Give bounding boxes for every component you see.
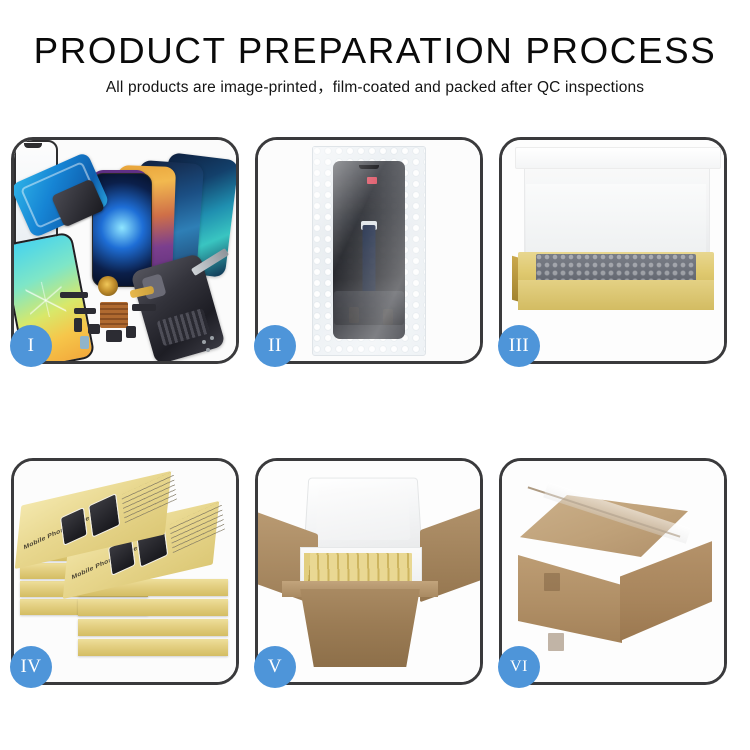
phone-parts-illustration	[14, 140, 236, 361]
qc-sticker	[367, 177, 377, 184]
step-image-3	[502, 140, 724, 361]
box-art-phone-1a	[60, 507, 88, 546]
step-badge-6: VI	[498, 646, 540, 688]
step-panel-3: III	[499, 137, 727, 364]
stacked-box-slab-6	[78, 619, 228, 636]
box-art-phone-1b	[88, 493, 120, 538]
screw-part-2	[210, 336, 214, 340]
step-panel-6: VI	[499, 458, 727, 685]
carton-face-left	[518, 543, 622, 643]
carton-packing-illustration	[258, 461, 480, 682]
flex-cable-part-2	[74, 308, 96, 314]
process-steps-grid: I	[11, 137, 739, 685]
step-panel-5: V	[255, 458, 483, 685]
bubble-wrap-bag	[312, 146, 426, 356]
speaker-coil-part	[98, 276, 118, 296]
open-gold-box-illustration	[502, 140, 724, 361]
stacked-box-slab-5	[78, 639, 228, 656]
step-badge-3: III	[498, 325, 540, 367]
step-image-5	[258, 461, 480, 682]
page-subtitle: All products are image-printed，film-coat…	[0, 78, 750, 98]
step-panel-1: I	[11, 137, 239, 364]
step-image-6	[502, 461, 724, 682]
chip-grid-part	[100, 302, 128, 328]
stacked-box-slab-7	[78, 599, 228, 616]
flex-cable-part-3	[132, 304, 156, 311]
step-badge-1: I	[10, 325, 52, 367]
bubble-wrapped-screen-illustration	[258, 140, 480, 361]
stacked-gold-boxes-illustration: Mobile Phone Spare Parts Mobile Phone Sp…	[14, 461, 236, 682]
page-header: PRODUCT PREPARATION PROCESS All products…	[0, 30, 750, 98]
step-badge-5: V	[254, 646, 296, 688]
grey-bubble-wrap-padding	[536, 254, 696, 282]
earpiece-part	[60, 292, 88, 298]
box-spec-lines-2	[169, 501, 225, 553]
connector-part-1	[74, 318, 82, 332]
foam-back-wall	[526, 184, 706, 256]
product-preparation-page: PRODUCT PREPARATION PROCESS All products…	[0, 0, 750, 750]
step-image-4: Mobile Phone Spare Parts Mobile Phone Sp…	[14, 461, 236, 682]
screw-part-3	[206, 348, 210, 352]
step-panel-4: Mobile Phone Spare Parts Mobile Phone Sp…	[11, 458, 239, 685]
sealed-carton-illustration	[502, 461, 724, 682]
gold-box-front-wall	[518, 280, 714, 310]
foam-box-open-lid	[304, 478, 423, 552]
battery-connector-part	[126, 326, 136, 338]
carton-body	[292, 589, 428, 667]
step-image-1	[14, 140, 236, 361]
lcd-screen-assembly	[333, 161, 405, 339]
carton-tab-upper	[544, 573, 560, 591]
step-badge-2: II	[254, 325, 296, 367]
connector-part-2	[88, 324, 100, 334]
carton-tab-lower	[548, 633, 564, 651]
step-badge-4: IV	[10, 646, 52, 688]
camera-module-part	[106, 330, 122, 342]
gold-box-stack: Mobile Phone Spare Parts Mobile Phone Sp…	[18, 471, 236, 677]
lcd-bottom-board	[334, 291, 404, 325]
screw-part-1	[202, 340, 206, 344]
step-image-2	[258, 140, 480, 361]
step-panel-2: II	[255, 137, 483, 364]
sim-tray-part	[80, 336, 89, 349]
page-title: PRODUCT PREPARATION PROCESS	[0, 30, 750, 72]
